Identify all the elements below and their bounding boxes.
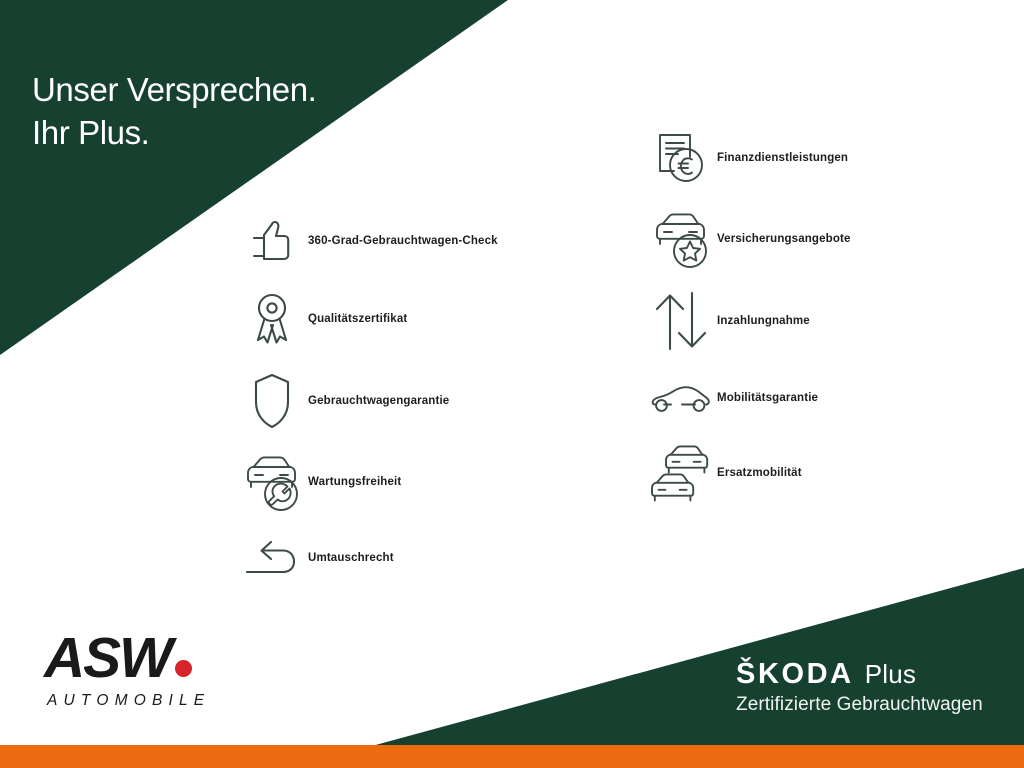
two-cars-icon — [645, 438, 717, 508]
feature-label: 360-Grad-Gebrauchtwagen-Check — [308, 235, 498, 247]
skoda-wordmark: ŠKODA — [736, 660, 854, 689]
shield-icon — [236, 369, 308, 433]
car-side-icon — [645, 378, 717, 418]
return-arrow-icon — [236, 535, 308, 581]
feature-label: Inzahlungnahme — [717, 315, 810, 327]
document-euro-icon — [645, 127, 717, 189]
feature-item-quality: Qualitätszertifikat — [236, 277, 626, 361]
feature-label: Versicherungsangebote — [717, 233, 851, 245]
skoda-logo-row: ŠKODA Plus — [736, 660, 983, 689]
skoda-subtitle: Zertifizierte Gebrauchtwagen — [736, 695, 983, 716]
up-down-arrows-icon — [645, 288, 717, 354]
asw-red-dot-icon — [175, 660, 192, 677]
skoda-plus-label: Plus — [865, 661, 916, 687]
asw-logo: ASW AUTOMOBILE — [44, 630, 259, 710]
thumbs-up-icon — [236, 213, 308, 269]
feature-label: Qualitätszertifikat — [308, 313, 407, 325]
feature-item-tradein: Inzahlungnahme — [645, 280, 1005, 362]
feature-item-financing: Finanzdienstleistungen — [645, 118, 1005, 198]
feature-label: Wartungsfreiheit — [308, 476, 401, 488]
feature-item-exchange: Umtauschrecht — [236, 523, 626, 593]
promo-banner: Unser Versprechen. Ihr Plus. 360-Grad-Ge… — [0, 0, 1024, 768]
orange-bottom-bar — [0, 745, 1024, 768]
feature-label: Ersatzmobilität — [717, 467, 802, 479]
feature-item-maintenance: Wartungsfreiheit — [236, 441, 626, 523]
asw-wordmark: ASW — [44, 630, 259, 687]
page-title: Unser Versprechen. Ihr Plus. — [32, 24, 316, 198]
car-star-icon — [645, 208, 717, 270]
car-wrench-icon — [236, 451, 308, 513]
quality-rosette-icon — [236, 288, 308, 350]
feature-item-warranty: Gebrauchtwagengarantie — [236, 361, 626, 441]
feature-item-insurance: Versicherungsangebote — [645, 198, 1005, 280]
asw-wordmark-text: ASW — [44, 630, 171, 687]
feature-list-left: 360-Grad-Gebrauchtwagen-Check Qualitätsz… — [236, 205, 626, 593]
feature-label: Mobilitätsgarantie — [717, 392, 818, 404]
skoda-plus-logo: ŠKODA Plus Zertifizierte Gebrauchtwagen — [736, 660, 983, 716]
feature-list-right: Finanzdienstleistungen Versicherungsange… — [645, 118, 1005, 512]
headline-line-1: Unser Versprechen. — [32, 71, 316, 108]
feature-label: Umtauschrecht — [308, 552, 394, 564]
feature-label: Finanzdienstleistungen — [717, 152, 848, 164]
feature-label: Gebrauchtwagengarantie — [308, 395, 449, 407]
feature-item-check: 360-Grad-Gebrauchtwagen-Check — [236, 205, 626, 277]
feature-item-replacement: Ersatzmobilität — [645, 434, 1005, 512]
feature-item-mobility: Mobilitätsgarantie — [645, 362, 1005, 434]
asw-subtitle: AUTOMOBILE — [47, 692, 259, 710]
headline-line-2: Ihr Plus. — [32, 111, 316, 155]
